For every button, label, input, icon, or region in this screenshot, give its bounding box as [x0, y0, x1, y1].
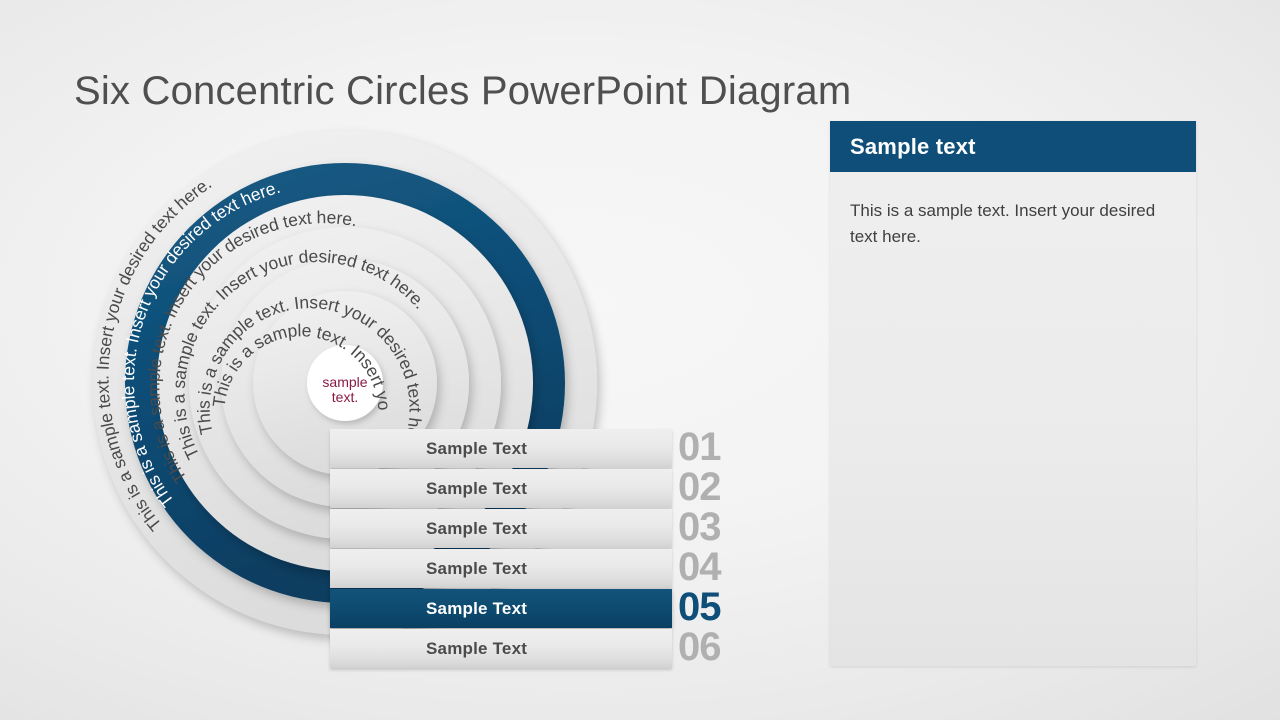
side-panel-header: Sample text [830, 121, 1196, 172]
center-label-line1: sample [307, 375, 383, 390]
legend-row-04[interactable]: Sample Text 04 [330, 549, 750, 589]
side-panel: Sample text This is a sample text. Inser… [830, 121, 1196, 666]
center-label-line2: text. [307, 390, 383, 405]
center-label: sample text. [307, 375, 383, 405]
legend-label: Sample Text [426, 589, 527, 628]
legend-row-03[interactable]: Sample Text 03 [330, 509, 750, 549]
side-panel-title: Sample text [830, 121, 1196, 172]
side-panel-body: This is a sample text. Insert your desir… [830, 172, 1196, 250]
legend-list: Sample Text 01 Sample Text 02 Sample Tex… [330, 429, 750, 675]
legend-label: Sample Text [426, 629, 527, 668]
legend-number: 06 [678, 624, 746, 670]
legend-row-02[interactable]: Sample Text 02 [330, 469, 750, 509]
legend-label: Sample Text [426, 549, 527, 588]
slide-canvas: Six Concentric Circles PowerPoint Diagra… [0, 0, 1280, 720]
legend-row-05[interactable]: Sample Text 05 [330, 589, 750, 629]
legend-label: Sample Text [426, 429, 527, 468]
legend-row-01[interactable]: Sample Text 01 [330, 429, 750, 469]
legend-label: Sample Text [426, 469, 527, 508]
legend-row-06[interactable]: Sample Text 06 [330, 629, 750, 669]
legend-label: Sample Text [426, 509, 527, 548]
